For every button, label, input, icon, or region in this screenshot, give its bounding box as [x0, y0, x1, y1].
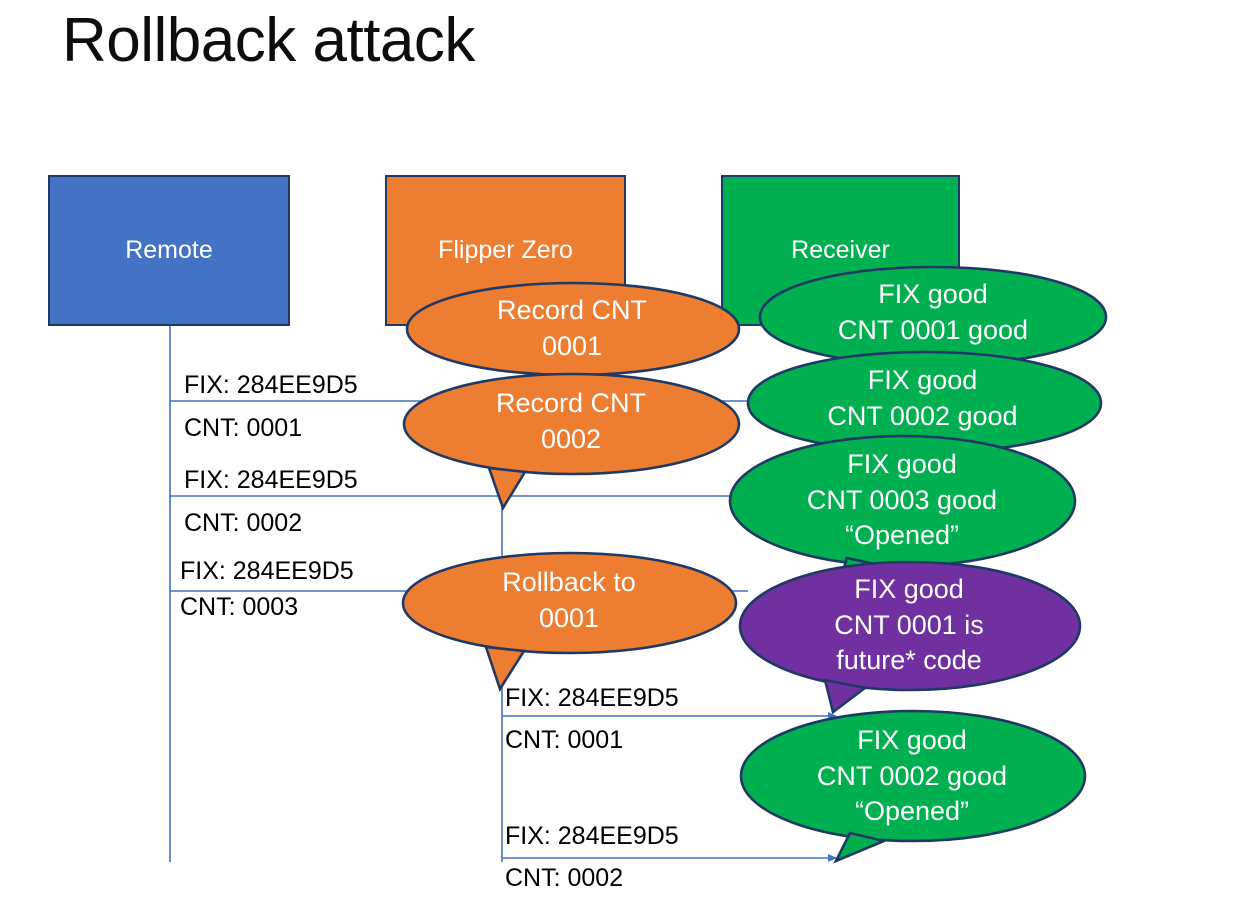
message-4-fix-label: FIX: 284EE9D5 — [505, 684, 679, 713]
message-1-fix-label: FIX: 284EE9D5 — [184, 371, 358, 400]
message-4-cnt-label: CNT: 0001 — [505, 726, 623, 755]
callout-receiver-4-alert[interactable]: FIX good CNT 0001 is future* code — [737, 560, 1081, 692]
actor-label-receiver: Receiver — [791, 236, 890, 265]
message-3-cnt-label: CNT: 0003 — [180, 593, 298, 622]
message-5-cnt-label: CNT: 0002 — [505, 864, 623, 893]
callout-receiver-5[interactable]: FIX good CNT 0002 good “Opened” — [738, 709, 1086, 843]
actor-label-remote: Remote — [125, 236, 213, 265]
message-5-fix-label: FIX: 284EE9D5 — [505, 822, 679, 851]
message-1-cnt-label: CNT: 0001 — [184, 414, 302, 443]
message-3-fix-label: FIX: 284EE9D5 — [180, 557, 354, 586]
callout-flipper-3[interactable]: Rollback to 0001 — [400, 551, 738, 683]
slide-canvas: Rollback attack Remote Flipper Zero — [0, 0, 1233, 898]
message-2-fix-label: FIX: 284EE9D5 — [184, 466, 358, 495]
callout-receiver-3[interactable]: FIX good CNT 0003 good “Opened” — [727, 434, 1077, 568]
message-2-cnt-label: CNT: 0002 — [184, 509, 302, 538]
actor-label-flipper: Flipper Zero — [438, 236, 573, 265]
callout-flipper-1[interactable]: Record CNT 0001 — [404, 281, 740, 375]
callout-flipper-2[interactable]: Record CNT 0002 — [401, 372, 741, 502]
actor-box-remote[interactable]: Remote — [48, 175, 290, 326]
